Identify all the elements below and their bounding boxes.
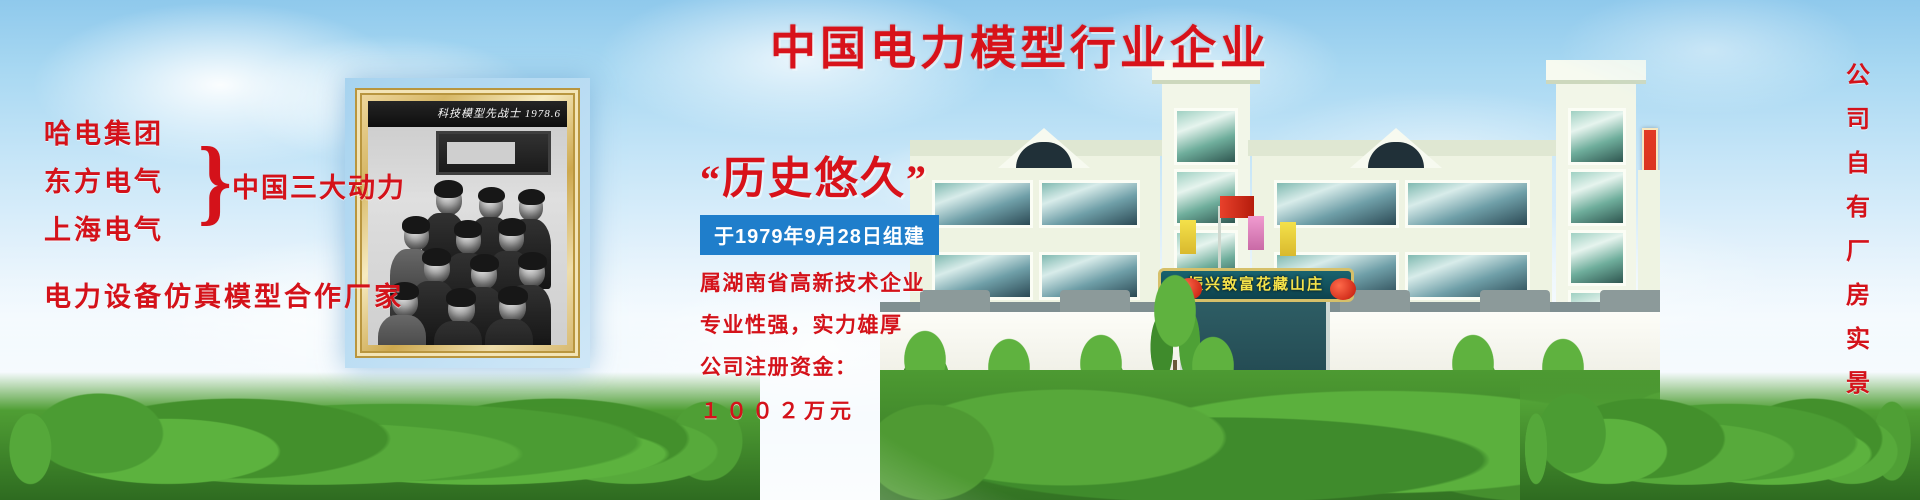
vertical-char: 有 [1840, 186, 1876, 230]
vertical-char: 公 [1840, 54, 1876, 98]
red-lantern [1330, 278, 1356, 300]
right-vertical-caption: 公 司 自 有 厂 房 实 景 [1840, 54, 1876, 406]
center-line: 属湖南省高新技术企业 [700, 267, 1000, 297]
center-line: 公司注册资金： [700, 351, 1000, 381]
vertical-char: 司 [1840, 98, 1876, 142]
roof-gable [998, 128, 1090, 168]
person-head [424, 253, 450, 283]
person-body [485, 319, 533, 345]
left-tagline: 电力设备仿真模型合作厂家 [44, 275, 404, 314]
person-head [499, 291, 526, 322]
person-head [519, 257, 545, 287]
person-head [471, 259, 497, 289]
quote-open: “ [700, 157, 722, 202]
person-head [404, 221, 429, 250]
gold-frame-molding: 科技模型先战士 1978.6 [355, 88, 580, 358]
brace-label: 中国三大动力 [232, 166, 406, 205]
roof-gable [1350, 128, 1442, 168]
headline: “历史悠久” [700, 150, 1000, 209]
yellow-banner-flag [1280, 222, 1296, 256]
banner-title: 中国电力模型行业企业 [0, 12, 1920, 78]
person-body [378, 315, 426, 345]
person-body [434, 321, 482, 345]
left-text-group: 哈电集团 东方电气 上海电气 } 中国三大动力 [44, 110, 354, 254]
person-head [499, 223, 524, 252]
person-head [456, 225, 481, 254]
person-head [479, 191, 503, 219]
person-head [436, 185, 462, 215]
headline-text: 历史悠久 [722, 154, 906, 203]
red-flag [1220, 196, 1254, 218]
foreground-greenery-left [0, 372, 760, 500]
vertical-char: 自 [1840, 142, 1876, 186]
vertical-char: 房 [1840, 274, 1876, 318]
quote-close: ” [906, 157, 928, 202]
promo-banner: 振兴致富花藏山庄 科技模型先战士 1978.6 [0, 0, 1920, 500]
vertical-char: 景 [1840, 362, 1876, 406]
center-text-group: “历史悠久” 于1979年9月28日组建 属湖南省高新技术企业 专业性强，实力雄… [700, 150, 1000, 425]
person-head [519, 193, 543, 221]
person-head [448, 293, 475, 324]
pink-banner-flag [1248, 216, 1264, 250]
vertical-char: 厂 [1840, 230, 1876, 274]
curly-brace-icon: } [198, 116, 232, 246]
registered-capital-amount: １００２万元 [700, 395, 1000, 425]
photo-banner-text: 科技模型先战士 1978.6 [368, 101, 567, 127]
window-row [1274, 180, 1530, 228]
vertical-char: 实 [1840, 318, 1876, 362]
historic-photo-frame: 科技模型先战士 1978.6 [345, 78, 590, 368]
yellow-banner-flag [1180, 220, 1196, 254]
photo-backdrop-board [436, 131, 551, 175]
center-line: 专业性强，实力雄厚 [700, 309, 1000, 339]
founding-date-ribbon: 于1979年9月28日组建 [700, 215, 939, 255]
